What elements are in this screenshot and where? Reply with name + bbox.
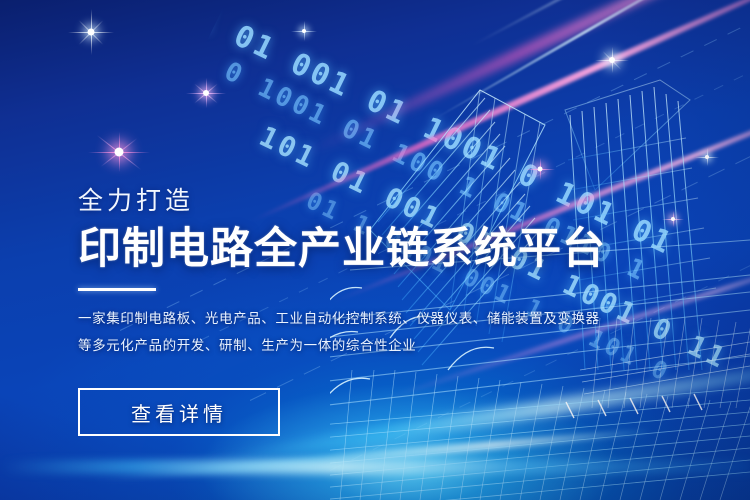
eyebrow-text: 全力打造 bbox=[78, 186, 638, 216]
sparkle-star bbox=[662, 208, 684, 230]
title-divider bbox=[78, 288, 156, 291]
sparkle-star bbox=[595, 43, 629, 77]
description: 一家集印制电路板、光电产品、工业自动化控制系统、仪器仪表、储能装置及变换器 等多… bbox=[78, 305, 638, 359]
sparkle-star bbox=[88, 121, 150, 183]
decor-bottom-glow-band bbox=[0, 460, 750, 474]
description-line: 一家集印制电路板、光电产品、工业自动化控制系统、仪器仪表、储能装置及变换器 bbox=[78, 305, 638, 332]
sparkle-star bbox=[525, 154, 555, 184]
sparkle-star bbox=[68, 9, 114, 55]
sparkle-star bbox=[186, 73, 226, 113]
page-title: 印制电路全产业链系统平台 bbox=[78, 225, 638, 273]
sparkle-star bbox=[695, 145, 719, 169]
description-line: 等多元化产品的开发、研制、生产为一体的综合性企业 bbox=[78, 332, 638, 359]
hero-content: 全力打造 印制电路全产业链系统平台 一家集印制电路板、光电产品、工业自动化控制系… bbox=[78, 186, 638, 436]
view-details-button[interactable]: 查看详情 bbox=[78, 388, 280, 436]
sparkle-star bbox=[291, 18, 317, 44]
hero-banner: 01 01 001 01 1001 0 101 01 0 1001 01 100… bbox=[0, 0, 750, 500]
